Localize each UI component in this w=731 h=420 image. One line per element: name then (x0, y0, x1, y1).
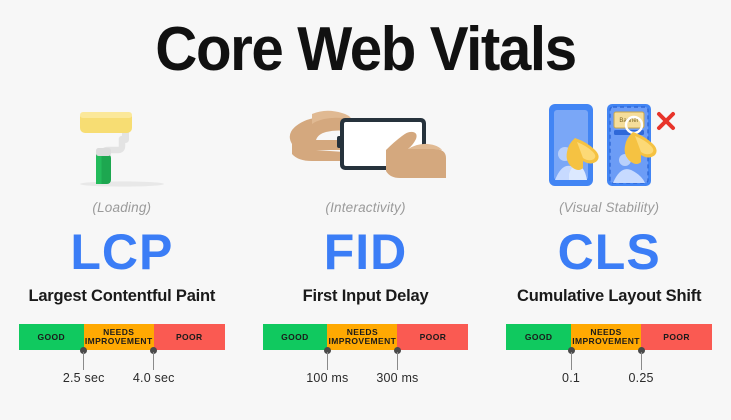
threshold-label: 300 ms (376, 371, 418, 385)
metric-column-lcp: (Loading) LCP Largest Contentful Paint G… (0, 95, 244, 415)
metric-name-fid: First Input Delay (303, 287, 429, 306)
threshold-label: 0.1 (562, 371, 580, 385)
core-web-vitals-infographic: Core Web Vitals (Loading) LCP Largest Co… (0, 0, 731, 420)
threshold-label: 100 ms (306, 371, 348, 385)
acronym-cls: CLS (558, 227, 661, 277)
sub-label-visual-stability: (Visual Stability) (559, 200, 659, 215)
error-x-icon (659, 114, 673, 128)
acronym-fid: FID (324, 227, 408, 277)
segment-poor: POOR (154, 324, 225, 350)
segment-needs-improvement: NEEDS IMPROVEMENT (327, 324, 397, 350)
shifting-layout-phones-icon: Banner (487, 95, 731, 190)
segment-good: GOOD (263, 324, 328, 350)
threshold-stem (83, 352, 84, 370)
threshold-stem (327, 352, 328, 370)
segment-good: GOOD (506, 324, 571, 350)
paint-roller-icon-svg (62, 98, 182, 190)
threshold-label: 4.0 sec (133, 371, 175, 385)
segment-good: GOOD (19, 324, 84, 350)
threshold-bar-cls: GOOD NEEDS IMPROVEMENT POOR 0.1 0.25 (506, 324, 712, 396)
page-title: Core Web Vitals (22, 14, 709, 85)
metrics-columns: (Loading) LCP Largest Contentful Paint G… (0, 95, 731, 415)
metric-column-fid: (Interactivity) FID First Input Delay GO… (244, 95, 488, 415)
acronym-lcp: LCP (70, 227, 173, 277)
threshold-bar-track: GOOD NEEDS IMPROVEMENT POOR 100 ms 300 m… (263, 324, 469, 350)
threshold-bar-fid: GOOD NEEDS IMPROVEMENT POOR 100 ms 300 m… (263, 324, 469, 396)
threshold-label: 0.25 (629, 371, 654, 385)
threshold-bar-track: GOOD NEEDS IMPROVEMENT POOR 2.5 sec 4.0 … (19, 324, 225, 350)
segment-needs-improvement: NEEDS IMPROVEMENT (84, 324, 154, 350)
threshold-bar-track: GOOD NEEDS IMPROVEMENT POOR 0.1 0.25 (506, 324, 712, 350)
shifting-layout-phones-icon-svg: Banner (535, 98, 683, 190)
hands-tapping-phone-icon (244, 95, 488, 190)
threshold-stem (571, 352, 572, 370)
sub-label-interactivity: (Interactivity) (325, 200, 405, 215)
segment-needs-improvement: NEEDS IMPROVEMENT (571, 324, 641, 350)
hands-tapping-phone-icon-svg (282, 98, 450, 190)
sub-label-loading: (Loading) (92, 200, 151, 215)
metric-name-cls: Cumulative Layout Shift (517, 287, 701, 306)
metric-column-cls: Banner (Visual Stability) CLS (487, 95, 731, 415)
threshold-stem (153, 352, 154, 370)
threshold-stem (641, 352, 642, 370)
threshold-bar-lcp: GOOD NEEDS IMPROVEMENT POOR 2.5 sec 4.0 … (19, 324, 225, 396)
paint-roller-icon (0, 95, 244, 190)
threshold-label: 2.5 sec (63, 371, 105, 385)
segment-poor: POOR (641, 324, 712, 350)
threshold-stem (397, 352, 398, 370)
metric-name-lcp: Largest Contentful Paint (28, 287, 215, 306)
segment-poor: POOR (397, 324, 468, 350)
